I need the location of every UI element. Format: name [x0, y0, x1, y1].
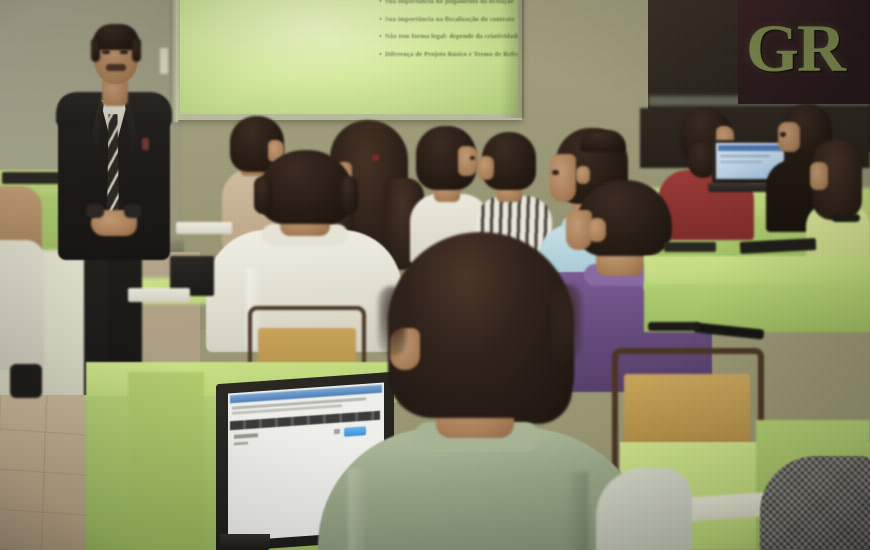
foreground-laptop-base	[220, 534, 270, 550]
attendee-standing-right-face	[778, 122, 800, 152]
attendee-foreground-hair-wisp	[552, 284, 582, 362]
bullet-marker-icon: ▪	[376, 0, 385, 7]
attendee-bottom-left-sleeve	[596, 468, 692, 550]
attendee-white-shirt-hair-right	[340, 176, 358, 214]
attendee-bottom-right-patterned	[760, 456, 870, 550]
slide-bullet-1: ▪ Sua importância no julgamento da licit…	[376, 0, 518, 7]
gr-watermark: GR	[738, 0, 870, 104]
attendee-striped-face	[478, 156, 494, 180]
attendee-white-shirt-hair-left	[254, 176, 272, 214]
slide-bullet-2-text: Sua importância na fiscalização do contr…	[385, 14, 515, 25]
attendee-foreground-crease	[566, 472, 588, 550]
slide-bullet-list: ▪ Sua importância no julgamento da licit…	[376, 0, 518, 66]
slide-bullet-2: ▪ Sua importância na fiscalização do con…	[376, 14, 518, 25]
presenter-cuff-right	[124, 204, 142, 218]
attendee-light-blue-eye	[552, 170, 559, 175]
slide-bullet-4: ▪ Diferença de Projeto Básico e Termo de…	[376, 49, 518, 60]
attendee-left-edge-leg	[10, 364, 42, 398]
slide-bullet-3-text: Não tem forma legal: depende da criativi…	[385, 31, 518, 42]
attendee-bottom-left-sleeve-shape	[596, 468, 692, 550]
presenter-moustache	[106, 64, 126, 71]
presenter-eye-left	[102, 50, 110, 54]
attendee-far-right-face	[810, 162, 828, 190]
slide-bullet-4-text: Diferença de Projeto Básico e Termo de R…	[385, 49, 518, 60]
attendee-left-edge-torso	[0, 240, 44, 370]
bullet-marker-icon: ▪	[376, 31, 385, 42]
attendee-left-edge	[0, 168, 52, 398]
attendee-foreground-hair-wisp	[378, 286, 406, 356]
attendee-light-blue-hair-top	[580, 130, 626, 152]
screen-shadow	[500, 0, 524, 118]
slide-bullet-3: ▪ Não tem forma legal: depende da criati…	[376, 31, 518, 42]
background-laptop-text-line	[720, 155, 770, 157]
device-on-mid-right-table-2	[664, 242, 716, 252]
presenter-lapel-pin	[142, 138, 149, 150]
attendee-foreground-crease	[348, 468, 368, 550]
background-laptop-text-line	[720, 161, 762, 163]
bullet-marker-icon: ▪	[376, 14, 385, 25]
table-foreground-left-fold	[128, 372, 204, 550]
photo-scene: ▪ Sua importância no julgamento da licit…	[0, 0, 870, 550]
presenter-cuff-left	[86, 204, 104, 218]
presenter-hair-side-right	[132, 38, 141, 62]
attendee-standing-right-eye	[780, 132, 786, 137]
bullet-marker-icon: ▪	[376, 49, 385, 60]
slide-bullet-1-text: Sua importância no julgamento da licitaç…	[385, 0, 514, 7]
presenter-eye-right	[120, 50, 128, 54]
gr-watermark-text: GR	[746, 2, 864, 94]
presenter-hair-side-left	[91, 38, 100, 62]
notebook-on-table	[176, 222, 232, 234]
projection-screen: ▪ Sua importância no julgamento da licit…	[180, 0, 518, 114]
attendee-far-right-strap	[832, 214, 860, 222]
attendee-bottom-right-garment	[760, 456, 870, 550]
attendee-foreground-hair	[388, 232, 574, 418]
papers-on-table	[128, 288, 190, 302]
